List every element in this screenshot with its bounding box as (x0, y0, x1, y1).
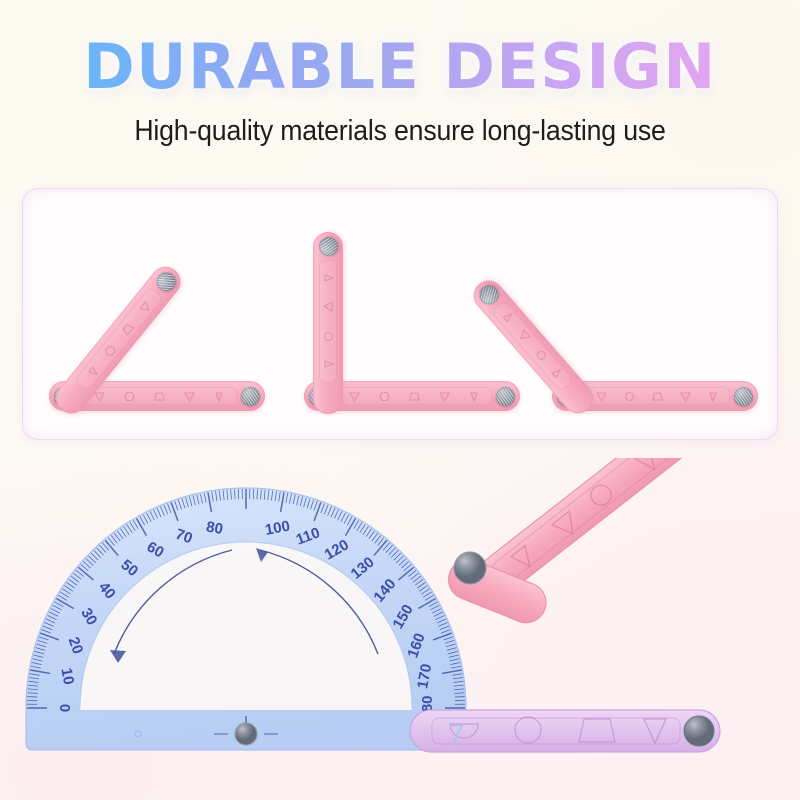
protractor-degree-label: 10 (57, 667, 77, 686)
ruler-arm-stencils (588, 381, 725, 411)
trapezoid-icon (651, 390, 664, 403)
header: DURABLE DESIGN High-quality materials en… (0, 0, 800, 148)
triangle-narrow-icon (468, 390, 479, 403)
protractor-svg: 0102030405060708010011012013014015016017… (18, 458, 758, 758)
protractor-degree-label: 80 (205, 518, 224, 538)
ruler-arm-stencils (313, 265, 343, 378)
hinge-rivet (734, 387, 753, 406)
hexagon-icon (378, 390, 391, 403)
ruler-arm-stencils (85, 381, 232, 411)
circle-icon (623, 390, 636, 403)
base-engrave-mark: 7 (448, 719, 465, 752)
page-title: DURABLE DESIGN (0, 34, 800, 99)
product-marketing-image: DURABLE DESIGN High-quality materials en… (0, 0, 800, 800)
triangle-down-icon (348, 390, 361, 403)
trapezoid-icon (118, 320, 136, 338)
triangle-up-icon (322, 300, 335, 313)
hinge-rivet (496, 387, 515, 406)
triangle-narrow-icon (213, 390, 224, 403)
ruler-arm-stencils (340, 381, 487, 411)
ruler-arm-vertical (313, 232, 343, 414)
triangle-down-icon (136, 298, 154, 316)
circle-icon (531, 346, 549, 364)
triangle-narrow-icon (707, 390, 718, 403)
triangle-narrow-icon (84, 363, 101, 380)
circle-icon (322, 330, 335, 343)
triangle-down-icon (183, 390, 196, 403)
hexagon-icon (123, 390, 136, 403)
triangle-up-icon (515, 327, 533, 345)
triangle-down-icon (679, 390, 692, 403)
ruler-arm-stencils (489, 299, 575, 392)
triangle-down-icon (595, 390, 608, 403)
ruler-arm-stencils (73, 286, 166, 391)
triangle-narrow-icon (322, 273, 335, 284)
hinge-rivet (684, 716, 714, 746)
triangle-down-icon (438, 390, 451, 403)
triangle-narrow-icon (322, 359, 335, 370)
hexagon-icon (101, 341, 119, 359)
hinge-rivet (241, 387, 260, 406)
hinge-rivet (319, 237, 338, 256)
triangle-narrow-icon (548, 365, 565, 382)
page-subtitle: High-quality materials ensure long-lasti… (32, 115, 768, 148)
triangle-narrow-icon (500, 310, 517, 327)
hero-protractor-assembly: 0102030405060708010011012013014015016017… (0, 448, 800, 800)
protractor-degree-label: 0 (56, 704, 73, 712)
product-showcase-card (22, 188, 778, 440)
trapezoid-icon (408, 390, 421, 403)
trapezoid-icon (153, 390, 166, 403)
